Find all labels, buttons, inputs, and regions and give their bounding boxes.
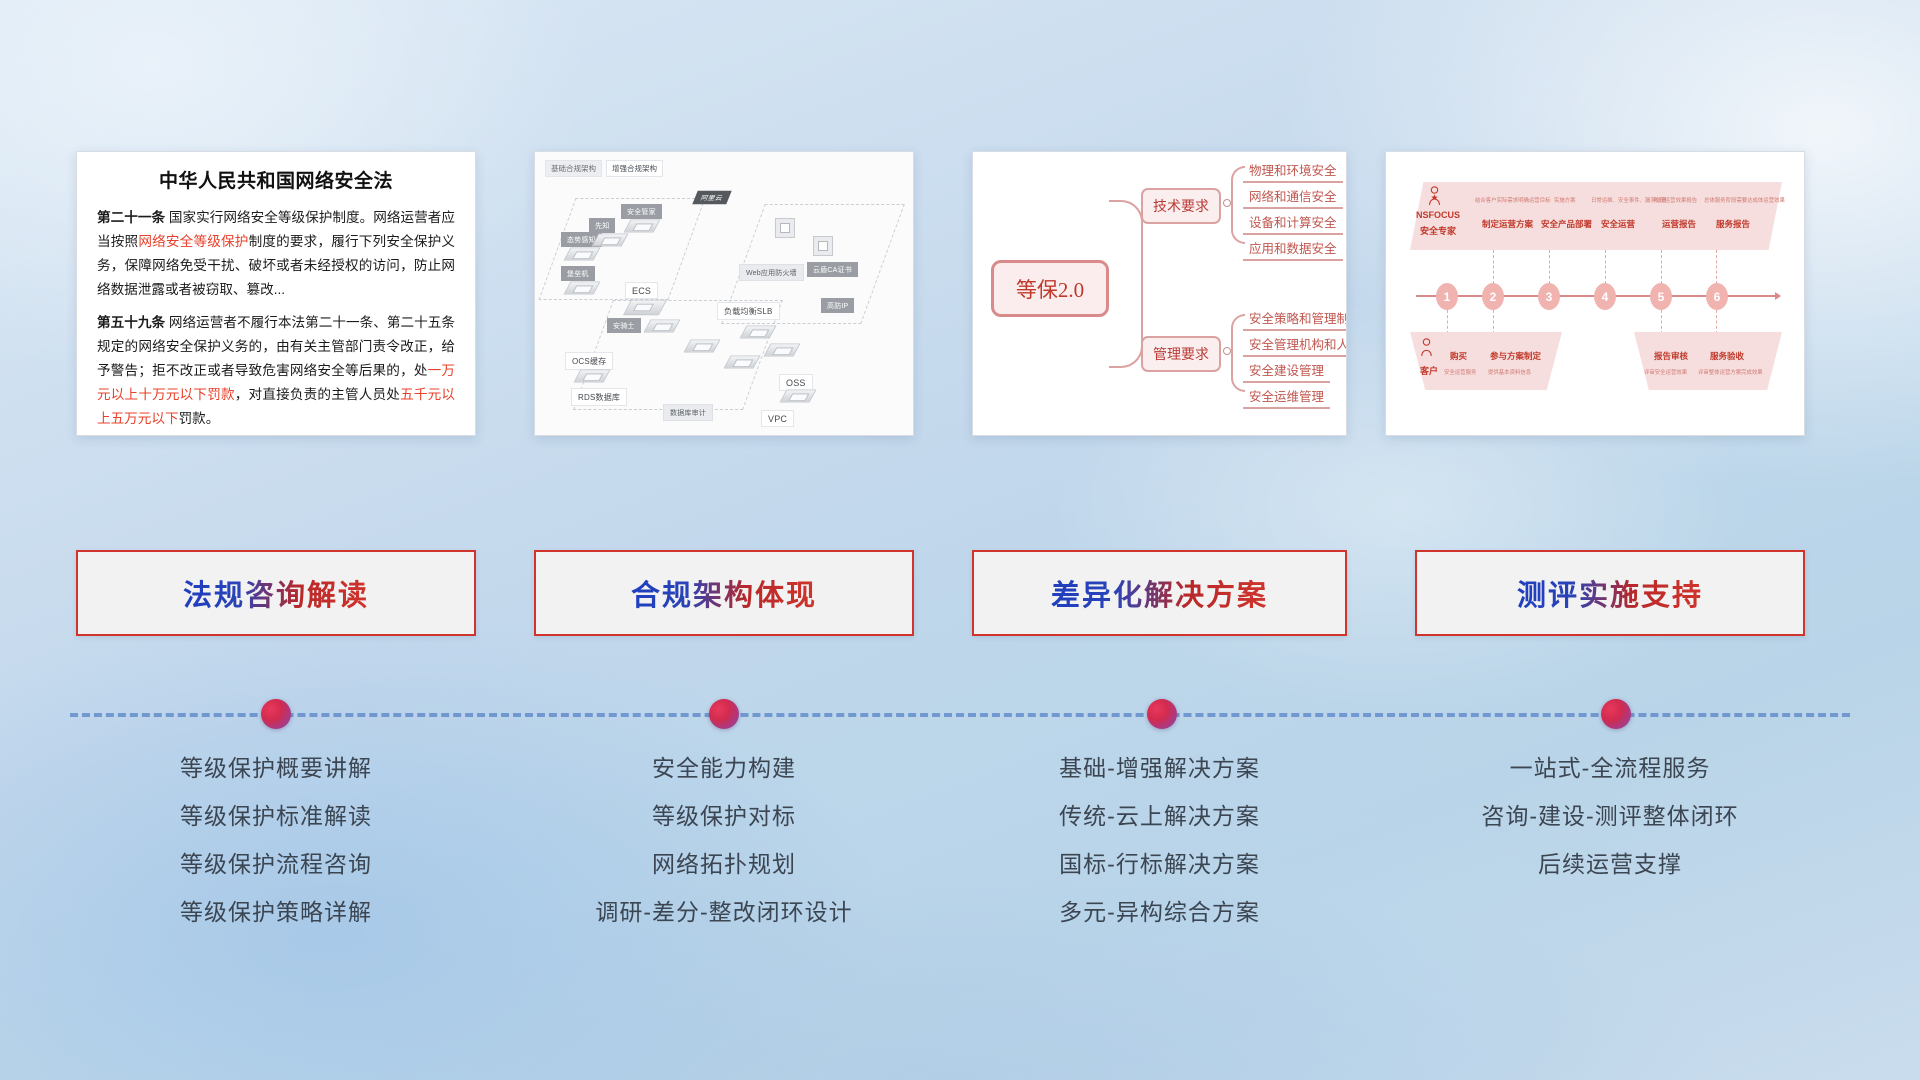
card-cybersecurity-law[interactable]: 中华人民共和国网络安全法 第二十一条 国家实行网络安全等级保护制度。网络运营者应… [76,151,476,436]
law-article-2-seg-4: 罚款。 [179,411,220,426]
law-document: 中华人民共和国网络安全法 第二十一条 国家实行网络安全等级保护制度。网络运营者应… [77,152,475,436]
mindmap-leaf-construction-mgmt: 安全建设管理 [1243,360,1330,383]
heading-box-regulation-consulting[interactable]: 法规咨询解读 [76,550,476,636]
list-item: 等级保护策略详解 [76,889,476,937]
step-4-caption: 运营报告 [1662,218,1696,230]
mindmap-leaf-physical-security: 物理和环境安全 [1243,160,1343,183]
label-anti-ddos-ip: 高防IP [821,298,854,313]
expert-icon [1428,186,1441,206]
mindmap-dot-management [1223,347,1231,355]
step-5-caption: 服务报告 [1716,218,1750,230]
label-vpc: VPC [761,410,794,427]
list-item: 网络拓扑规划 [534,841,914,889]
connector-customer-buy [1447,310,1448,334]
review-step-2-caption: 服务验收 [1710,350,1744,362]
customer-step-1-caption: 购买 [1450,350,1467,362]
heading-label-1: 法规咨询解读 [183,572,369,614]
mindmap-leaf-operations-mgmt: 安全运维管理 [1243,386,1330,409]
law-article-2-label: 第五十九条 [97,315,165,330]
detail-column-regulation-consulting: 等级保护概要讲解 等级保护标准解读 等级保护流程咨询 等级保护策略详解 [76,745,476,937]
mindmap-leaf-security-policy: 安全策略和管理制度 [1243,308,1347,331]
mindmap-leaf-security-org: 安全管理机构和人员 [1243,334,1347,357]
heading-box-differentiated-solution[interactable]: 差异化解决方案 [972,550,1347,636]
connector-step-6 [1716,250,1717,284]
list-item: 传统-云上解决方案 [972,793,1347,841]
list-item: 安全能力构建 [534,745,914,793]
detail-column-differentiated-solution: 基础-增强解决方案 传统-云上解决方案 国标-行标解决方案 多元-异构综合方案 [972,745,1347,937]
mindmap-root-node: 等保2.0 [991,260,1109,317]
label-ca-certificate: 云盾CA证书 [807,262,858,277]
law-article-1-highlight: 网络安全等级保护 [138,234,248,249]
card-service-timeline[interactable]: NSFOCUS 安全专家 结合客户实际需求明确运营目标 制定运营方案 实施方案 … [1385,151,1805,436]
progress-timeline [0,695,1920,735]
step-1-caption: 制定运营方案 [1482,218,1533,230]
expert-role: 安全专家 [1420,224,1456,237]
server-icon-slb [740,325,777,338]
server-icon-oss [780,389,817,402]
detail-column-assessment-support: 一站式-全流程服务 咨询-建设-测评整体闭环 后续运营支撑 [1415,745,1805,889]
label-database-audit: 数据库审计 [663,404,713,421]
timeline-marker-1[interactable] [261,699,291,729]
timeline-top-band [1410,182,1782,250]
review-step-1-caption: 报告审核 [1654,350,1688,362]
timeline-node-3: 3 [1538,283,1560,310]
preview-cards-row: 中华人民共和国网络安全法 第二十一条 国家实行网络安全等级保护制度。网络运营者应… [0,151,1920,441]
server-icon-ecs-group-3 [764,343,801,356]
step-4-sub: 阶段运营效果报告 [1654,196,1697,204]
list-item: 等级保护标准解读 [76,793,476,841]
label-security-steward: 安全管家 [621,204,662,219]
law-article-1: 第二十一条 国家实行网络安全等级保护制度。网络运营者应当按照网络安全等级保护制度… [97,206,455,302]
device-icon-mobile [775,218,795,238]
timeline-node-1: 1 [1436,283,1458,310]
label-ocs-cache: OCS缓存 [565,352,613,370]
review-step-1-sub: 评审安全运营效果 [1644,368,1687,376]
step-2-caption: 安全产品部署 [1541,218,1592,230]
heading-label-2: 合规架构体现 [631,572,817,614]
timeline-node-6: 6 [1706,283,1728,310]
mindmap-root-connector [1109,200,1143,368]
label-slb: 负载均衡SLB [717,302,780,320]
connector-step-2 [1493,250,1494,284]
label-xianzhi: 先知 [589,218,615,233]
card-cloud-architecture[interactable]: 基础合规架构 增强合规架构 阿里云 态势感知 先知 安全管家 堡垒机 ECS 安… [534,151,914,436]
heading-box-assessment-support[interactable]: 测评实施支持 [1415,550,1805,636]
step-2-sub: 实施方案 [1554,196,1576,204]
law-article-2: 第五十九条 网络运营者不履行本法第二十一条、第二十五条规定的网络安全保护义务的，… [97,311,455,431]
list-item: 等级保护流程咨询 [76,841,476,889]
timeline-dashed-line [70,713,1850,717]
list-item: 调研-差分-整改闭环设计 [534,889,914,937]
label-anqishi: 安骑士 [607,318,641,333]
label-ecs: ECS [625,282,658,299]
mindmap-leaf-device-security: 设备和计算安全 [1243,212,1343,235]
expert-name: NSFOCUS [1416,210,1460,220]
service-timeline-diagram: NSFOCUS 安全专家 结合客户实际需求明确运营目标 制定运营方案 实施方案 … [1386,152,1804,435]
timeline-node-5: 5 [1650,283,1672,310]
timeline-marker-4[interactable] [1601,699,1631,729]
list-item: 国标-行标解决方案 [972,841,1347,889]
connector-customer-plan [1493,310,1494,334]
customer-step-1-sub: 安全运营服务 [1444,368,1476,376]
label-cloud-provider: 阿里云 [692,191,731,205]
detail-column-compliance-architecture: 安全能力构建 等级保护对标 网络拓扑规划 调研-差分-整改闭环设计 [534,745,914,937]
heading-label-3: 差异化解决方案 [1051,572,1268,614]
mindmap-diagram: 等保2.0 技术要求 物理和环境安全 网络和通信安全 设备和计算安全 应用和数据… [973,152,1346,435]
law-article-1-label: 第二十一条 [97,210,165,225]
connector-service-accept [1716,310,1717,334]
mindmap-leaf-application-security: 应用和数据安全 [1243,238,1343,261]
customer-step-2-sub: 提供基本资料信息 [1488,368,1531,376]
timeline-node-4: 4 [1594,283,1616,310]
list-item: 一站式-全流程服务 [1415,745,1805,793]
step-3-caption: 安全运营 [1601,218,1635,230]
architecture-diagram: 基础合规架构 增强合规架构 阿里云 态势感知 先知 安全管家 堡垒机 ECS 安… [535,152,913,435]
label-rds-database: RDS数据库 [571,388,627,406]
label-oss: OSS [779,374,813,391]
tab-basic-architecture[interactable]: 基础合规架构 [545,160,602,177]
connector-report-review [1661,310,1662,334]
connector-step-5 [1661,250,1662,284]
section-headings-row: 法规咨询解读 合规架构体现 差异化解决方案 测评实施支持 [0,550,1920,640]
list-item: 咨询-建设-测评整体闭环 [1415,793,1805,841]
connector-step-3 [1549,250,1550,284]
timeline-marker-3[interactable] [1147,699,1177,729]
heading-box-compliance-architecture[interactable]: 合规架构体现 [534,550,914,636]
law-article-2-seg-2: ，对直接负责的主管人员处 [235,387,400,402]
card-mindmap-dengbao[interactable]: 等保2.0 技术要求 物理和环境安全 网络和通信安全 设备和计算安全 应用和数据… [972,151,1347,436]
list-item: 等级保护对标 [534,793,914,841]
customer-step-2-caption: 参与方案制定 [1490,350,1541,362]
heading-label-4: 测评实施支持 [1517,572,1703,614]
mindmap-branch-management: 管理要求 [1141,336,1221,372]
mindmap-branch-technical: 技术要求 [1141,188,1221,224]
review-step-2-sub: 评审整体运营方案完成效果 [1698,368,1763,376]
mindmap-dot-technical [1223,199,1231,207]
device-icon-pc [813,236,833,256]
list-item: 基础-增强解决方案 [972,745,1347,793]
customer-icon [1420,338,1433,358]
mindmap-leaf-network-security: 网络和通信安全 [1243,186,1343,209]
law-title: 中华人民共和国网络安全法 [97,166,455,193]
list-item: 等级保护概要讲解 [76,745,476,793]
timeline-node-2: 2 [1482,283,1504,310]
customer-role: 客户 [1420,364,1438,377]
timeline-marker-2[interactable] [709,699,739,729]
list-item: 多元-异构综合方案 [972,889,1347,937]
architecture-tabs[interactable]: 基础合规架构 增强合规架构 [545,160,663,177]
connector-step-4 [1605,250,1606,284]
tab-enhanced-architecture[interactable]: 增强合规架构 [606,160,663,177]
label-bastion-host: 堡垒机 [561,266,595,281]
step-1-sub: 结合客户实际需求明确运营目标 [1475,196,1550,204]
step-5-sub: 总体服务阶段需要达成体运营效果 [1704,196,1785,204]
label-waf: Web应用防火墙 [739,264,804,281]
list-item: 后续运营支撑 [1415,841,1805,889]
